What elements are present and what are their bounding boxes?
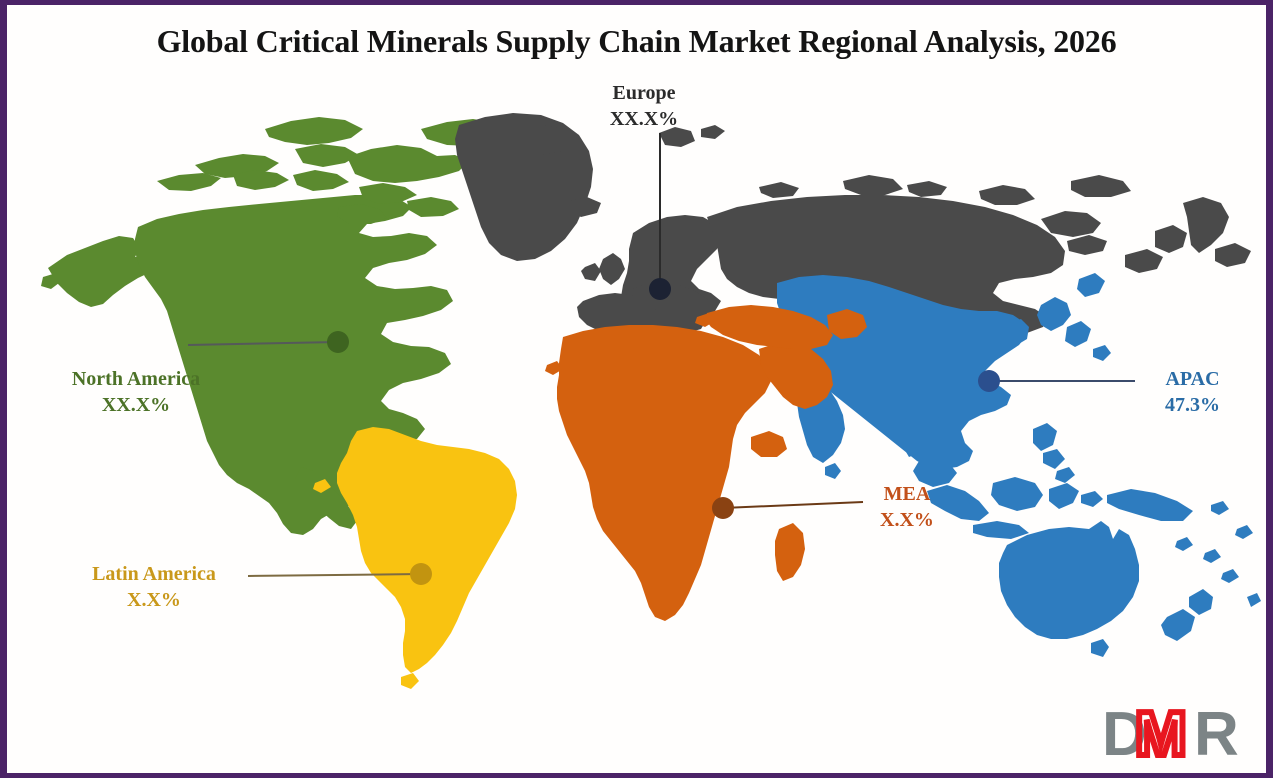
region-label-mea: MEA X.X% [827, 481, 987, 534]
infographic-canvas: Global Critical Minerals Supply Chain Ma… [0, 0, 1273, 778]
marker-europe[interactable] [649, 278, 671, 300]
region-label-apac: APAC 47.3% [1135, 366, 1250, 419]
region-name-apac: APAC [1165, 368, 1219, 390]
region-value-apac: 47.3% [1135, 392, 1250, 418]
region-label-europe: Europe XX.X% [545, 80, 743, 133]
region-value-north-america: XX.X% [21, 392, 251, 418]
region-value-latin-america: X.X% [39, 587, 269, 613]
dmr-logo[interactable]: D R M [1102, 703, 1252, 765]
region-name-europe: Europe [613, 82, 676, 104]
map-region-latin-america[interactable] [313, 427, 517, 689]
region-label-north-america: North America XX.X% [21, 366, 251, 419]
marker-mea[interactable] [712, 497, 734, 519]
marker-apac[interactable] [978, 370, 1000, 392]
region-value-mea: X.X% [827, 507, 987, 533]
region-name-north-america: North America [72, 368, 200, 390]
region-name-mea: MEA [884, 483, 931, 505]
region-name-latin-america: Latin America [92, 563, 216, 585]
region-label-latin-america: Latin America X.X% [39, 561, 269, 614]
marker-latin-america[interactable] [410, 563, 432, 585]
region-value-europe: XX.X% [545, 106, 743, 132]
logo-letter-m: M [1135, 703, 1187, 765]
marker-north-america[interactable] [327, 331, 349, 353]
logo-letter-r: R [1194, 703, 1239, 765]
